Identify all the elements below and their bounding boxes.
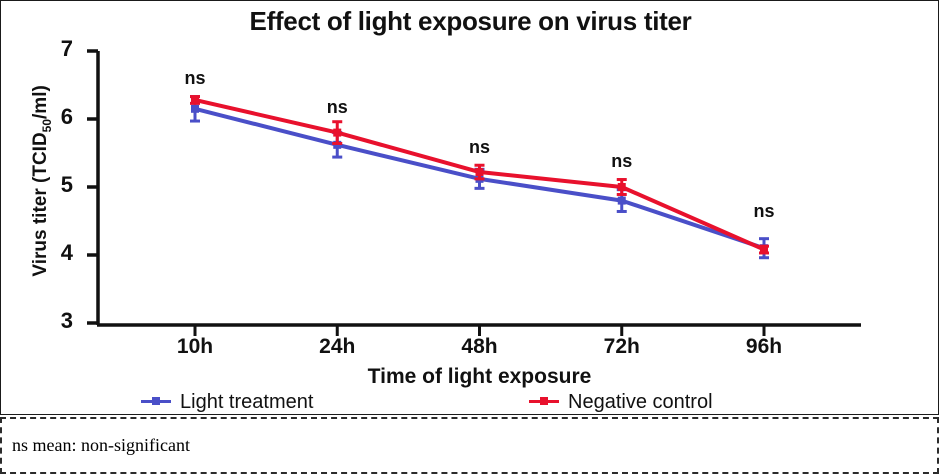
y-axis-tick-label: 7 — [45, 36, 73, 62]
x-axis-tick-label-72h: 72h — [582, 335, 662, 359]
legend: Light treatmentNegative control — [1, 389, 940, 415]
significance-annotation-24h: ns — [307, 97, 367, 118]
legend-marker-icon — [540, 397, 548, 405]
y-axis-tick-labels: 76543 — [39, 1, 73, 416]
data-point-marker[interactable] — [760, 246, 768, 254]
x-axis-tick-label-48h: 48h — [440, 335, 520, 359]
legend-item-light-treatment[interactable]: Light treatment — [141, 391, 313, 414]
x-axis-tick-label-10h: 10h — [155, 335, 235, 359]
legend-swatch-icon — [141, 395, 171, 409]
legend-swatch-icon — [529, 395, 559, 409]
footnote-panel: ns mean: non-significant — [0, 417, 939, 474]
legend-label: Negative control — [568, 391, 713, 414]
y-axis-tick-label: 3 — [45, 308, 73, 334]
y-axis-tick-label: 6 — [45, 104, 73, 130]
footnote-text: ns mean: non-significant — [2, 435, 190, 456]
data-point-marker[interactable] — [191, 96, 199, 104]
significance-annotation-48h: ns — [450, 137, 510, 158]
chart-panel: Effect of light exposure on virus titer … — [0, 0, 939, 415]
data-point-marker[interactable] — [333, 129, 341, 137]
data-point-marker[interactable] — [618, 197, 626, 205]
significance-annotation-96h: ns — [734, 201, 794, 222]
x-axis-tick-label-24h: 24h — [297, 335, 377, 359]
data-point-marker[interactable] — [476, 168, 484, 176]
y-axis-tick-label: 5 — [45, 172, 73, 198]
x-axis-tick-label-96h: 96h — [724, 335, 804, 359]
legend-item-negative-control[interactable]: Negative control — [529, 391, 713, 414]
significance-annotation-72h: ns — [592, 151, 652, 172]
x-axis-title: Time of light exposure — [98, 365, 861, 389]
data-point-marker[interactable] — [618, 183, 626, 191]
y-axis-tick-label: 4 — [45, 240, 73, 266]
figure-root: Effect of light exposure on virus titer … — [0, 0, 941, 476]
significance-annotation-10h: ns — [165, 68, 225, 89]
data-point-marker[interactable] — [191, 105, 199, 113]
legend-label: Light treatment — [180, 391, 313, 414]
legend-marker-icon — [152, 397, 160, 405]
